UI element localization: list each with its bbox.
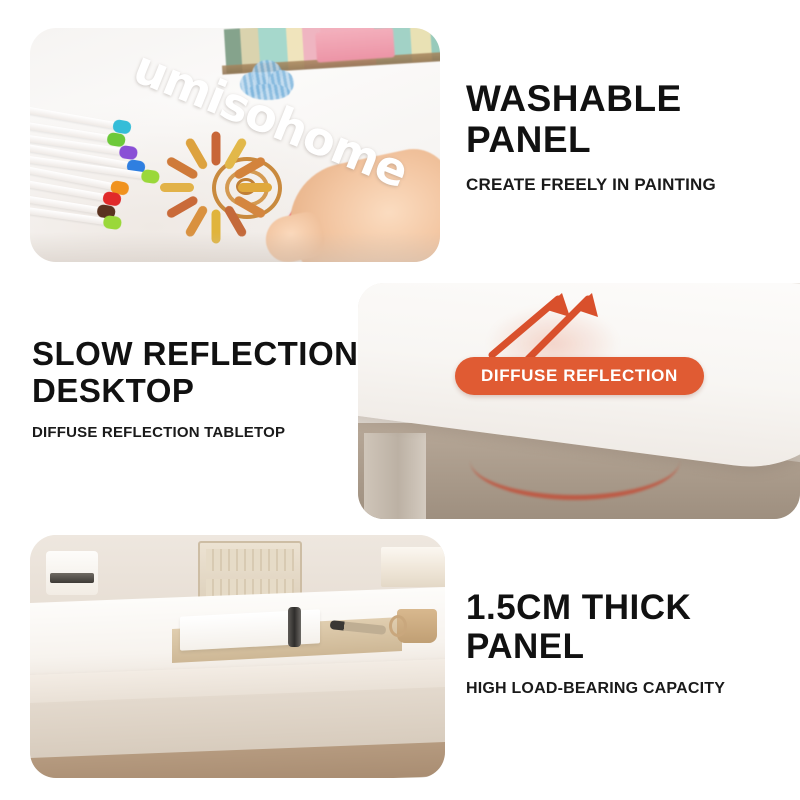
- headline-slow-reflection: SLOW REFLECTION DESKTOP: [32, 336, 358, 410]
- photo-washable-panel: umisohome: [30, 28, 440, 262]
- subline-slow-reflection: DIFFUSE REFLECTION TABLETOP: [32, 424, 358, 441]
- headline-line-2: PANEL: [466, 119, 716, 160]
- photo-bottom-shadow: [30, 232, 440, 262]
- headline-washable-panel: WASHABLE PANEL: [466, 78, 716, 161]
- headline-line-2: DESKTOP: [32, 373, 358, 410]
- stapler: [46, 551, 98, 595]
- text-block-washable-panel: WASHABLE PANEL CREATE FREELY IN PAINTING: [466, 78, 716, 195]
- reflection-arc: [470, 421, 680, 500]
- headline-line-1: WASHABLE: [466, 78, 682, 119]
- subline-thick-panel: HIGH LOAD-BEARING CAPACITY: [466, 680, 725, 698]
- product-feature-collage: umisohome WASHABLE PANEL CREATE FREELY I…: [0, 0, 800, 800]
- headline-thick-panel: 1.5CM THICK PANEL: [466, 588, 725, 666]
- headline-line-1: 1.5CM THICK: [466, 588, 691, 627]
- badge-diffuse-reflection: DIFFUSE REFLECTION: [455, 357, 704, 395]
- headline-line-1: SLOW REFLECTION: [32, 335, 358, 372]
- binder-clip: [288, 607, 301, 647]
- diffuse-arrows-icon: [484, 289, 604, 365]
- desk-leg: [364, 433, 426, 519]
- headline-line-2: PANEL: [466, 627, 725, 666]
- marker-pens-group: [30, 106, 216, 236]
- text-block-thick-panel: 1.5CM THICK PANEL HIGH LOAD-BEARING CAPA…: [466, 588, 725, 698]
- text-block-slow-reflection: SLOW REFLECTION DESKTOP DIFFUSE REFLECTI…: [32, 336, 358, 441]
- book-stack: [381, 547, 445, 587]
- artwork-pink-block: [315, 28, 395, 63]
- photo-thick-panel: [30, 535, 445, 778]
- photo-diffuse-reflection: [358, 283, 800, 519]
- subline-washable-panel: CREATE FREELY IN PAINTING: [466, 175, 716, 195]
- desk-mug: [397, 609, 437, 643]
